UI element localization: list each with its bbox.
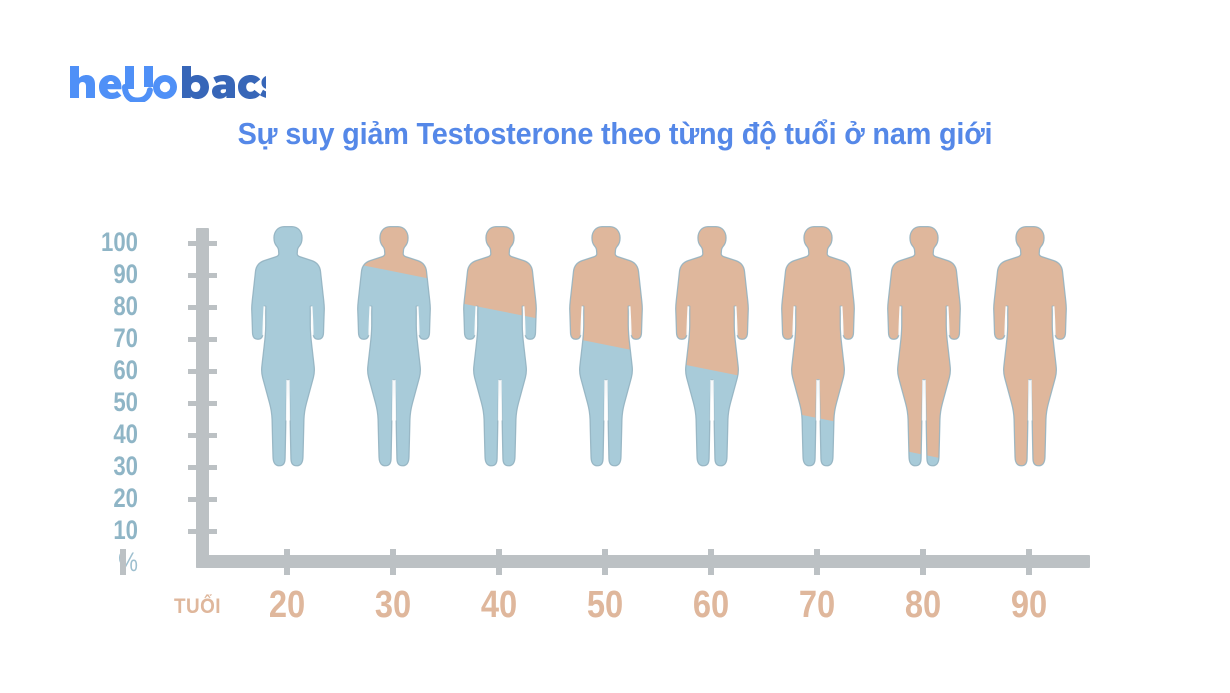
figure-age-60-leg-line — [710, 380, 713, 421]
y-tick-60 — [188, 369, 217, 374]
figure-age-50 — [563, 225, 649, 525]
figure-age-30-left-arm-line — [369, 306, 370, 335]
figure-age-80-svg — [881, 225, 967, 525]
x-label-70: 70 — [774, 585, 860, 625]
logo-svg — [66, 62, 266, 102]
figure-age-60-left-arm-line — [687, 306, 688, 335]
figure-age-80-right-arm-line — [948, 306, 949, 335]
y-label-90: 90 — [84, 261, 138, 288]
infographic-canvas: Sự suy giảm Testosterone theo từng độ tu… — [0, 0, 1230, 693]
y-label-40: 40 — [84, 421, 138, 448]
figure-age-40-leg-line — [498, 380, 501, 421]
figure-age-20-leg-line — [286, 380, 289, 421]
x-label-60: 60 — [668, 585, 754, 625]
page-title: Sự suy giảm Testosterone theo từng độ tu… — [43, 116, 1187, 152]
y-label-80: 80 — [84, 293, 138, 320]
y-tick-100 — [188, 241, 217, 246]
figure-age-50-svg — [563, 225, 649, 525]
y-axis-bar — [196, 228, 209, 568]
figure-age-40-right-arm-line — [524, 306, 525, 335]
y-label-20: 20 — [84, 485, 138, 512]
y-axis-unit-label: % — [84, 549, 138, 576]
y-tick-70 — [188, 337, 217, 342]
figure-age-20-left-arm-line — [263, 306, 264, 335]
figure-age-60 — [669, 225, 755, 525]
figure-age-90 — [987, 225, 1073, 525]
y-tick-20 — [188, 497, 217, 502]
y-label-50: 50 — [84, 389, 138, 416]
x-tick-50 — [602, 549, 608, 575]
figure-age-50-leg-line — [604, 380, 607, 421]
figure-age-30 — [351, 225, 437, 525]
y-label-30: 30 — [84, 453, 138, 480]
x-label-40: 40 — [456, 585, 542, 625]
x-label-80: 80 — [880, 585, 966, 625]
x-label-90: 90 — [986, 585, 1072, 625]
x-label-30: 30 — [350, 585, 436, 625]
y-tick-50 — [188, 401, 217, 406]
figure-age-30-svg — [351, 225, 437, 525]
y-tick-30 — [188, 465, 217, 470]
figure-age-70-svg — [775, 225, 861, 525]
figure-age-20-right-arm-line — [312, 306, 313, 335]
y-tick-80 — [188, 305, 217, 310]
figure-age-90-left-arm-line — [1005, 306, 1006, 335]
figure-age-20 — [245, 225, 331, 525]
x-tick-70 — [814, 549, 820, 575]
figure-age-30-right-arm-line — [418, 306, 419, 335]
x-axis-labels: TUỔI 20 30 40 50 60 70 80 90 — [120, 585, 1090, 635]
hellobacsi-logo — [66, 62, 266, 102]
figure-age-50-left-arm-line — [581, 306, 582, 335]
y-label-60: 60 — [84, 357, 138, 384]
x-axis-bar — [196, 555, 1090, 568]
figure-age-90-right-arm-line — [1054, 306, 1055, 335]
figure-age-40 — [457, 225, 543, 525]
y-label-70: 70 — [84, 325, 138, 352]
y-tick-40 — [188, 433, 217, 438]
figure-age-70-left-arm-line — [793, 306, 794, 335]
figure-age-40-svg — [457, 225, 543, 525]
figure-age-40-left-arm-line — [475, 306, 476, 335]
figure-age-80-left-arm-line — [899, 306, 900, 335]
y-tick-10 — [188, 529, 217, 534]
y-tick-90 — [188, 273, 217, 278]
x-label-50: 50 — [562, 585, 648, 625]
figure-age-20-svg — [245, 225, 331, 525]
figure-age-70 — [775, 225, 861, 525]
x-tick-90 — [1026, 549, 1032, 575]
y-label-10: 10 — [84, 517, 138, 544]
figure-age-90-svg — [987, 225, 1073, 525]
x-tick-40 — [496, 549, 502, 575]
figure-age-60-right-arm-line — [736, 306, 737, 335]
figure-age-70-leg-line — [816, 380, 819, 421]
chart-area: 100 90 80 70 60 50 40 30 20 10 % — [120, 225, 1090, 570]
y-label-100: 100 — [84, 229, 138, 256]
x-tick-80 — [920, 549, 926, 575]
x-label-20: 20 — [244, 585, 330, 625]
figure-age-70-right-arm-line — [842, 306, 843, 335]
figure-age-90-leg-line — [1028, 380, 1031, 421]
figure-age-80-leg-line — [922, 380, 925, 421]
x-axis-caption: TUỔI — [174, 595, 246, 619]
figure-age-60-svg — [669, 225, 755, 525]
figure-age-30-leg-line — [392, 380, 395, 421]
x-tick-20 — [284, 549, 290, 575]
figure-age-80 — [881, 225, 967, 525]
figure-age-50-right-arm-line — [630, 306, 631, 335]
x-tick-60 — [708, 549, 714, 575]
x-tick-30 — [390, 549, 396, 575]
